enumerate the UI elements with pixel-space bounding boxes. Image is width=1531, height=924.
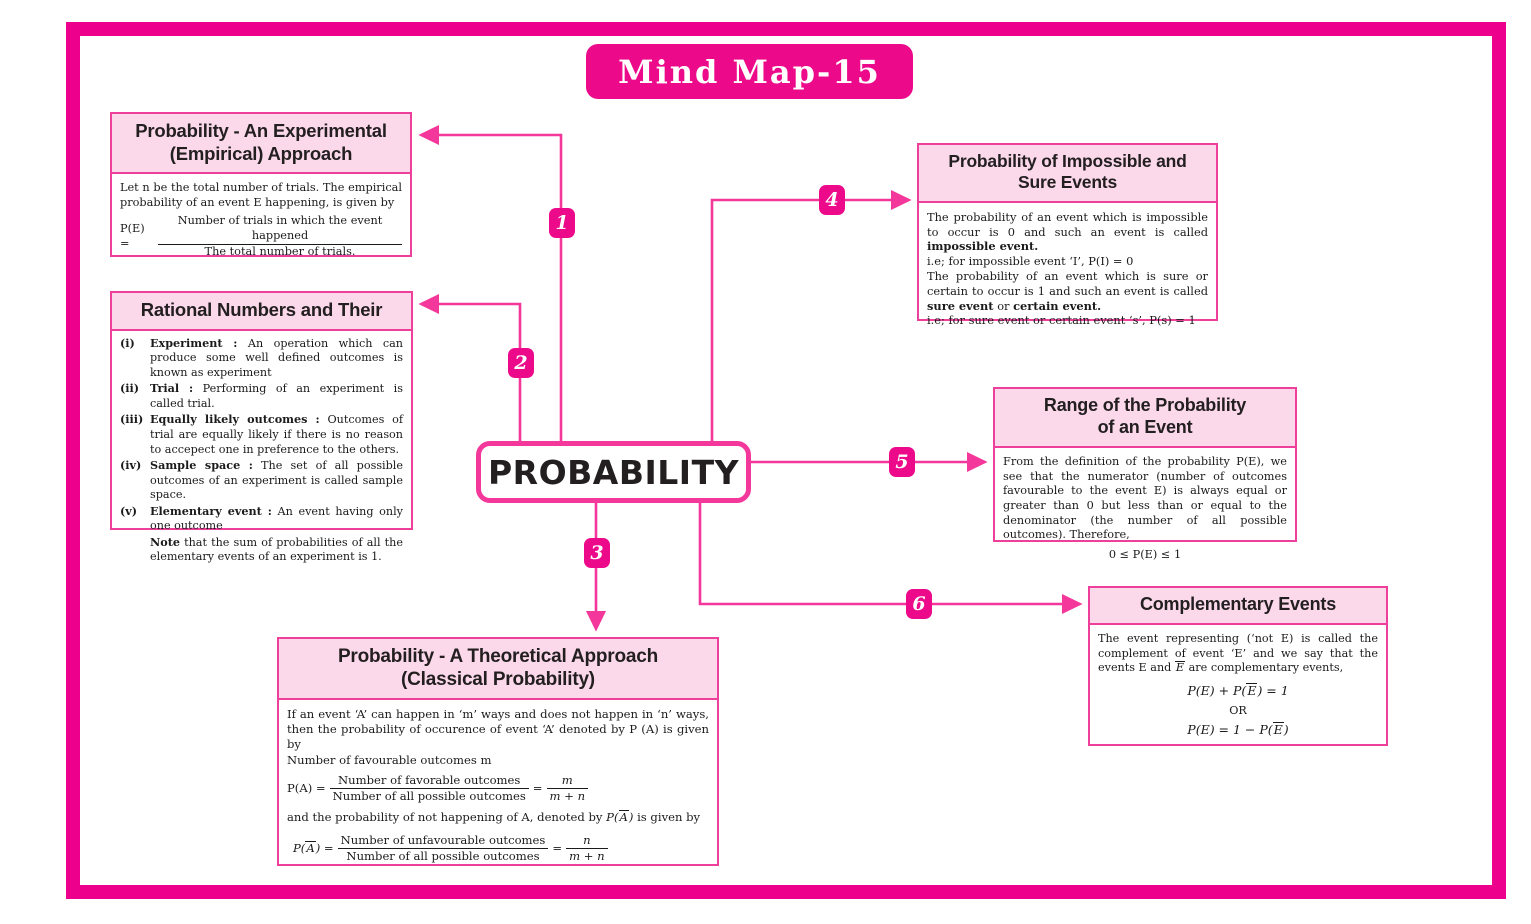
connector-badge-4: 4 [819, 185, 845, 215]
connector-lines [0, 0, 1531, 924]
central-node-probability: PROBABILITY [476, 441, 751, 503]
connector-badge-5: 5 [889, 447, 915, 477]
connector-badge-2: 2 [508, 348, 534, 378]
connector-badge-6: 6 [906, 589, 932, 619]
central-node-label: PROBABILITY [488, 453, 739, 492]
mind-map-page: Mind Map-15 1 2 3 4 5 6 PROBABIL [0, 0, 1531, 924]
connector-badge-3: 3 [584, 538, 610, 568]
connector-badge-1: 1 [549, 208, 575, 238]
